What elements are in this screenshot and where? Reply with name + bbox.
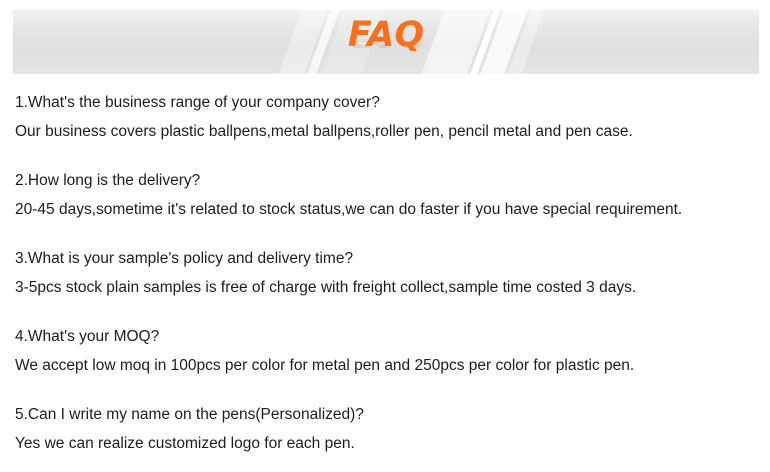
faq-item: 3.What is your sample's policy and deliv… [15,244,757,302]
faq-answer: 3-5pcs stock plain samples is free of ch… [15,273,757,302]
faq-question: 1.What's the business range of your comp… [15,88,757,117]
faq-item: 2.How long is the delivery? 20-45 days,s… [15,166,757,224]
faq-answer: 20-45 days,sometime it's related to stoc… [15,195,757,224]
faq-question: 4.What's your MOQ? [15,322,757,351]
faq-answer: Yes we can realize customized logo for e… [15,429,757,458]
banner-title-wrap: FAQ FAQ [13,16,759,74]
faq-answer: Our business covers plastic ballpens,met… [15,117,757,146]
page-title-reflection: FAQ [13,27,759,51]
faq-item: 5.Can I write my name on the pens(Person… [15,400,757,458]
faq-question: 2.How long is the delivery? [15,166,757,195]
faq-item: 1.What's the business range of your comp… [15,88,757,146]
faq-question: 5.Can I write my name on the pens(Person… [15,400,757,429]
faq-page: FAQ FAQ 1.What's the business range of y… [0,0,770,472]
faq-answer: We accept low moq in 100pcs per color fo… [15,351,757,380]
faq-list: 1.What's the business range of your comp… [15,88,757,458]
faq-question: 3.What is your sample's policy and deliv… [15,244,757,273]
faq-item: 4.What's your MOQ? We accept low moq in … [15,322,757,380]
faq-banner: FAQ FAQ [13,10,759,74]
